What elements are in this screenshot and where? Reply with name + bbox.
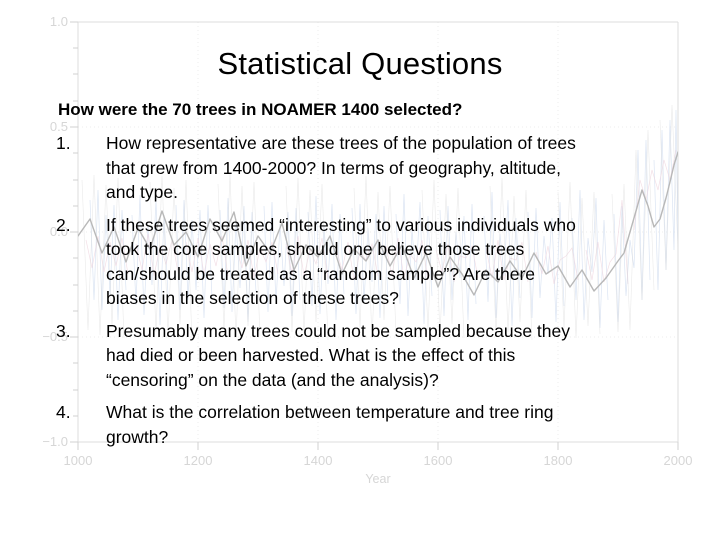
list-item: 4. What is the correlation between tempe…: [52, 400, 672, 449]
list-item: 2. If these trees seemed “interesting” t…: [52, 213, 672, 311]
slide-subheading: How were the 70 trees in NOAMER 1400 sel…: [58, 100, 462, 120]
list-item-text: Presumably many trees could not be sampl…: [106, 319, 672, 393]
list-item-number: 1.: [52, 131, 106, 156]
list-item: 3. Presumably many trees could not be sa…: [52, 319, 672, 393]
list-item: 1. How representative are these trees of…: [52, 131, 672, 205]
slide-canvas: 1.0 0.5 0.0 −0.5 −1.0 1000 1200 1400 160…: [0, 0, 720, 540]
list-item-number: 4.: [52, 400, 106, 425]
list-item-text: What is the correlation between temperat…: [106, 400, 672, 449]
questions-list: 1. How representative are these trees of…: [52, 131, 672, 457]
list-item-number: 2.: [52, 213, 106, 238]
list-item-text: How representative are these trees of th…: [106, 131, 672, 205]
list-item-number: 3.: [52, 319, 106, 344]
page-title: Statistical Questions: [0, 48, 720, 79]
list-item-text: If these trees seemed “interesting” to v…: [106, 213, 672, 311]
slide-content: Statistical Questions How were the 70 tr…: [0, 0, 720, 540]
